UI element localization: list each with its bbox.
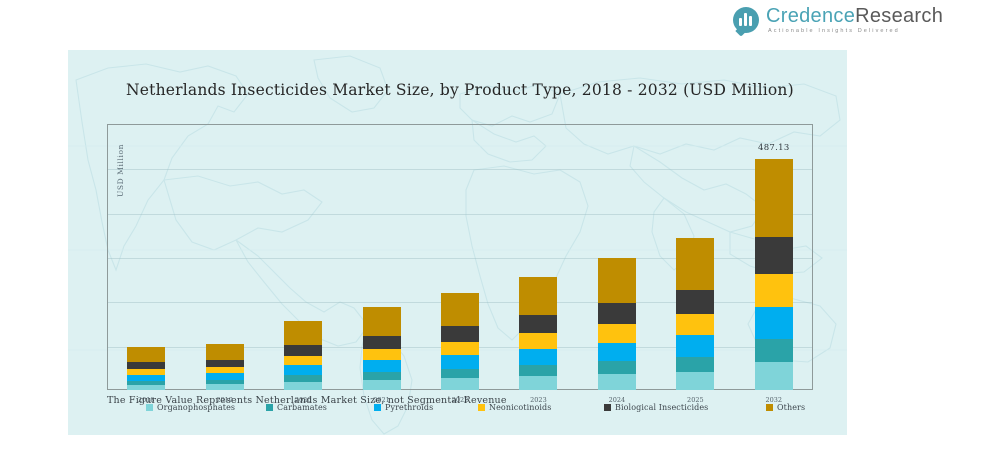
bar-segment[interactable]: [441, 293, 479, 326]
bar-segment[interactable]: [284, 365, 322, 375]
bar-segment[interactable]: [598, 361, 636, 374]
stacked-bar[interactable]: [441, 293, 479, 390]
bar-segment[interactable]: [284, 375, 322, 382]
legend-swatch: [604, 404, 611, 411]
chart-panel: Netherlands Insecticides Market Size, by…: [68, 50, 847, 435]
bar-segment[interactable]: [755, 159, 793, 238]
bar-group[interactable]: 2025: [656, 124, 734, 390]
bar-segment[interactable]: [363, 336, 401, 349]
bar-segment[interactable]: [127, 347, 165, 362]
bar-segment[interactable]: [598, 258, 636, 303]
brand-logo: CredenceResearch Actionable Insights Del…: [733, 6, 943, 35]
bar-segment[interactable]: [363, 380, 401, 390]
bar-segment[interactable]: [284, 345, 322, 356]
stacked-bar[interactable]: [755, 159, 793, 390]
legend-swatch: [766, 404, 773, 411]
brand-name-secondary: Research: [855, 5, 943, 27]
bar-segment[interactable]: [598, 374, 636, 390]
bar-segment[interactable]: [755, 339, 793, 362]
bar-group[interactable]: 2022: [421, 124, 499, 390]
bar-segment[interactable]: [519, 376, 557, 390]
brand-name-primary: Credence: [766, 5, 855, 27]
bar-group[interactable]: 2020: [264, 124, 342, 390]
bar-segment[interactable]: [519, 333, 557, 349]
bar-group[interactable]: 2024: [578, 124, 656, 390]
legend-item-biological-insecticides[interactable]: Biological Insecticides: [604, 403, 708, 412]
bar-segment[interactable]: [755, 274, 793, 306]
bar-group[interactable]: 2023: [499, 124, 577, 390]
bar-segment[interactable]: [441, 378, 479, 390]
bar-segment[interactable]: [363, 349, 401, 361]
bar-segment[interactable]: [519, 365, 557, 376]
bar-segment[interactable]: [598, 343, 636, 361]
bar-segment[interactable]: [284, 321, 322, 344]
bar-group[interactable]: 2018: [107, 124, 185, 390]
bar-segment[interactable]: [519, 315, 557, 333]
bar-chart-circle-icon: [733, 7, 759, 33]
bar-segment[interactable]: [598, 303, 636, 324]
bar-group[interactable]: 2021: [342, 124, 420, 390]
bar-segment[interactable]: [441, 326, 479, 342]
bar-segment[interactable]: [676, 357, 714, 372]
bar-segment[interactable]: [598, 324, 636, 342]
bar-segment[interactable]: [206, 384, 244, 390]
bar-group[interactable]: 487.132032: [735, 124, 813, 390]
legend-label: Biological Insecticides: [615, 403, 708, 412]
bar-segment[interactable]: [676, 335, 714, 356]
legend-label: Others: [777, 403, 805, 412]
bar-segment[interactable]: [206, 344, 244, 360]
bar-segment[interactable]: [519, 349, 557, 365]
bar-segment[interactable]: [284, 356, 322, 366]
stacked-bar[interactable]: [206, 344, 244, 390]
bar-segment[interactable]: [206, 360, 244, 367]
bar-segment[interactable]: [755, 307, 793, 339]
bar-segment[interactable]: [127, 362, 165, 369]
stacked-bar[interactable]: [127, 347, 165, 390]
stacked-bar[interactable]: [519, 277, 557, 390]
bar-segment[interactable]: [284, 382, 322, 390]
bar-value-label: 487.13: [758, 143, 790, 153]
legend-item-others[interactable]: Others: [766, 403, 805, 412]
bar-segment[interactable]: [519, 277, 557, 315]
stacked-bar[interactable]: [363, 307, 401, 390]
chart-title: Netherlands Insecticides Market Size, by…: [126, 81, 794, 99]
bar-segment[interactable]: [676, 372, 714, 390]
bar-series-container: 20182019202020212022202320242025487.1320…: [107, 124, 813, 390]
bar-segment[interactable]: [441, 355, 479, 369]
bar-group[interactable]: 2019: [185, 124, 263, 390]
brand-tagline: Actionable Insights Delivered: [768, 29, 943, 35]
bar-segment[interactable]: [755, 237, 793, 274]
stacked-bar[interactable]: [676, 238, 714, 390]
bar-segment[interactable]: [441, 369, 479, 379]
stacked-bar[interactable]: [598, 258, 636, 390]
bar-segment[interactable]: [127, 385, 165, 390]
bar-segment[interactable]: [676, 290, 714, 314]
bar-segment[interactable]: [441, 342, 479, 356]
bar-segment[interactable]: [755, 362, 793, 390]
bar-segment[interactable]: [363, 372, 401, 380]
stacked-bar[interactable]: [284, 321, 322, 390]
bar-segment[interactable]: [676, 314, 714, 335]
bar-segment[interactable]: [363, 360, 401, 372]
chart-footnote: The Figure Value Represents Netherlands …: [107, 395, 507, 406]
bar-segment[interactable]: [676, 238, 714, 289]
bar-segment[interactable]: [363, 307, 401, 335]
brand-logo-text: CredenceResearch Actionable Insights Del…: [766, 6, 943, 35]
